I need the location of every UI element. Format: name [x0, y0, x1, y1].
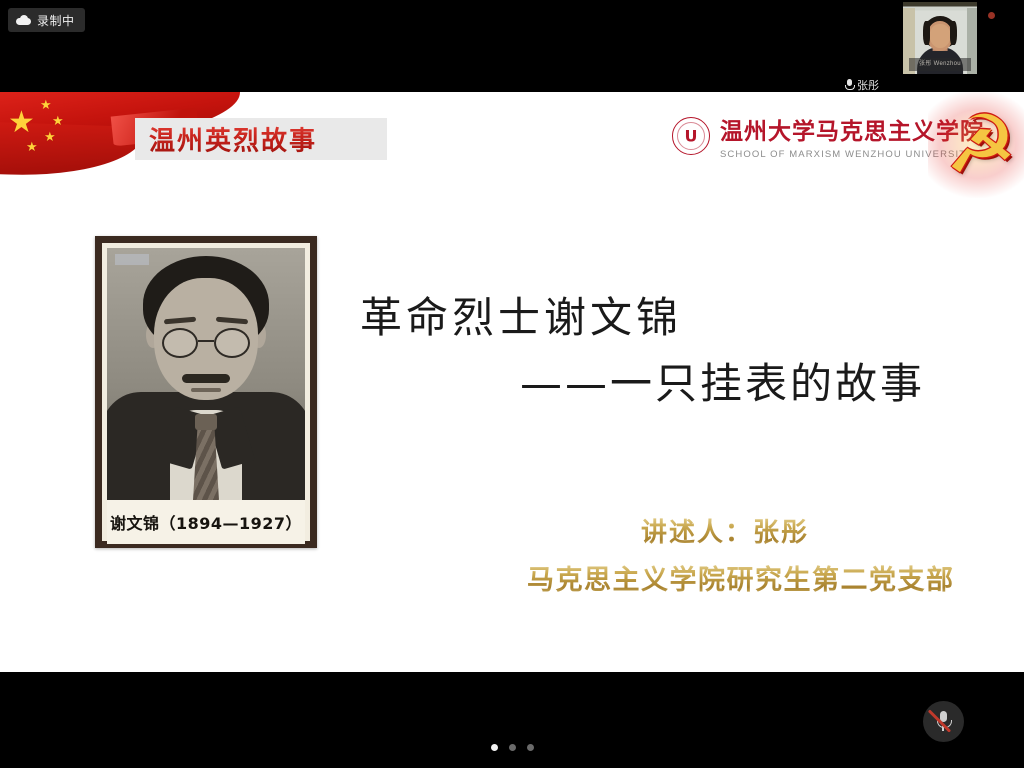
portrait-mouth: [191, 388, 221, 392]
flag-star-small-3: ★: [44, 130, 56, 143]
portrait-frame: 谢文锦（1894—1927）: [95, 236, 317, 548]
flag-star-small-1: ★: [40, 98, 52, 111]
page-dot-3[interactable]: [527, 744, 534, 751]
portrait-glasses-right-lens: [214, 328, 250, 358]
recording-label: 录制中: [37, 12, 75, 29]
cpc-emblem-icon: ☭: [938, 96, 1024, 192]
recording-indicator-dot: [988, 12, 995, 19]
flag-star-small-4: ★: [26, 140, 38, 153]
portrait-caption: 谢文锦（1894—1927）: [107, 500, 305, 544]
portrait-glasses-left-lens: [162, 328, 198, 358]
slide-presenter-line: 讲述人：张彤: [641, 512, 809, 549]
cpc-emblem-glyph: ☭: [938, 102, 1024, 188]
portrait-photo: [107, 248, 305, 500]
page-dot-2[interactable]: [509, 744, 516, 751]
conference-bottom-bar: [0, 672, 1024, 768]
conference-top-bar: 录制中 张彤 Wenzhou 张彤: [0, 0, 1024, 92]
university-seal-icon: U: [672, 117, 710, 155]
participant-name-text: 张彤: [857, 77, 879, 93]
flag-star-large: ★: [8, 108, 35, 138]
presentation-slide[interactable]: ★ ★ ★ ★ ★ 温州英烈故事 U 温州大学马克思主义学院 SCHOOL OF…: [0, 92, 1024, 672]
page-dot-1[interactable]: [491, 744, 498, 751]
webcam-name-overlay: 张彤 Wenzhou: [909, 58, 971, 71]
recording-badge: 录制中: [8, 8, 85, 32]
webcam-person-hair-right: [950, 21, 957, 45]
portrait-glasses-bridge: [198, 340, 214, 342]
webcam-person-face: [930, 24, 951, 48]
slide-page-indicator[interactable]: [0, 744, 1024, 751]
university-seal-letter: U: [685, 127, 698, 146]
slide-organization-line: 马克思主义学院研究生第二党支部: [527, 558, 955, 597]
slide-section-title: 温州英烈故事: [149, 121, 317, 158]
participant-name-label: 张彤: [845, 77, 879, 92]
flag-star-small-2: ★: [52, 114, 64, 127]
microphone-icon: [845, 79, 853, 91]
slide-section-title-band: 温州英烈故事: [135, 118, 387, 160]
slide-main-title: 革命烈士谢文锦: [360, 284, 682, 345]
portrait-caption-text: 谢文锦（1894—1927）: [110, 510, 302, 534]
portrait-mat: 谢文锦（1894—1927）: [102, 243, 310, 541]
cloud-icon: [16, 15, 31, 25]
webcam-person-hair-left: [923, 21, 930, 45]
slide-subtitle: ——一只挂表的故事: [520, 350, 925, 411]
portrait-watermark: [115, 254, 149, 265]
self-view-video-tile[interactable]: 张彤 Wenzhou: [903, 2, 977, 74]
portrait-tie-knot: [195, 414, 217, 430]
portrait-moustache: [182, 374, 230, 383]
mute-microphone-button[interactable]: [923, 701, 964, 742]
webcam-name-overlay-text: 张彤 Wenzhou: [909, 58, 971, 71]
